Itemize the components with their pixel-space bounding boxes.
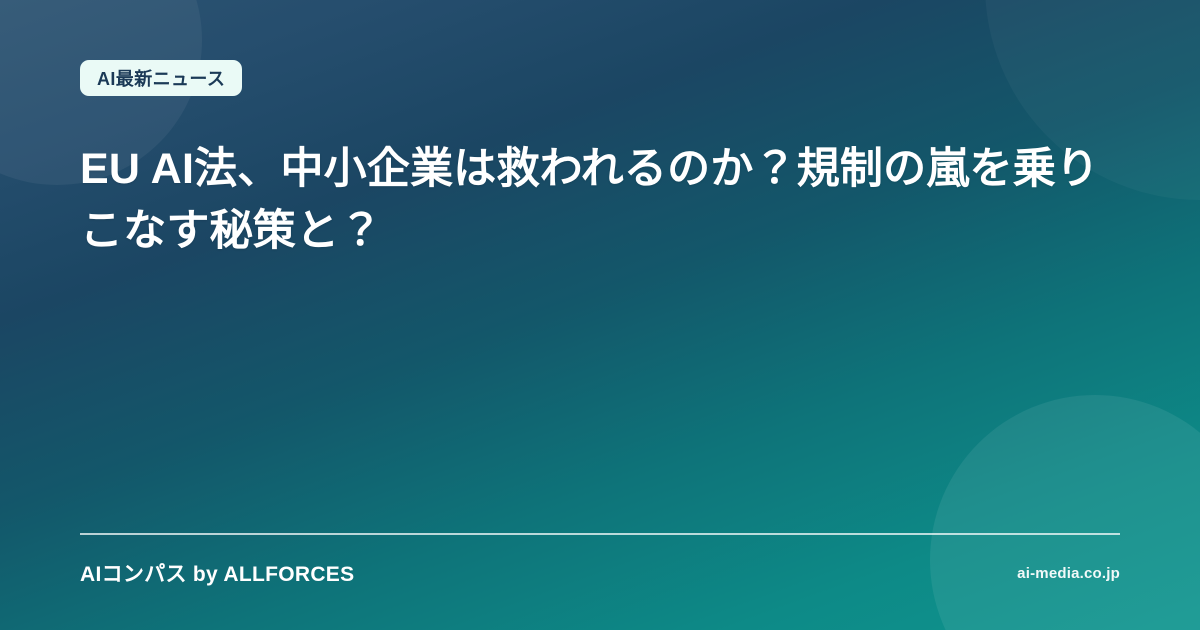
category-badge: AI最新ニュース <box>80 60 242 96</box>
card-content: AI最新ニュース EU AI法、中小企業は救われるのか？規制の嵐を乗りこなす秘策… <box>0 0 1200 630</box>
site-url: ai-media.co.jp <box>1017 565 1120 582</box>
page-title: EU AI法、中小企業は救われるのか？規制の嵐を乗りこなす秘策と？ <box>80 138 1125 262</box>
footer-divider <box>80 533 1120 535</box>
og-card: AI最新ニュース EU AI法、中小企業は救われるのか？規制の嵐を乗りこなす秘策… <box>0 0 1200 630</box>
footer: AIコンパス by ALLFORCES ai-media.co.jp <box>80 556 1120 590</box>
site-brand: AIコンパス by ALLFORCES <box>80 558 354 588</box>
